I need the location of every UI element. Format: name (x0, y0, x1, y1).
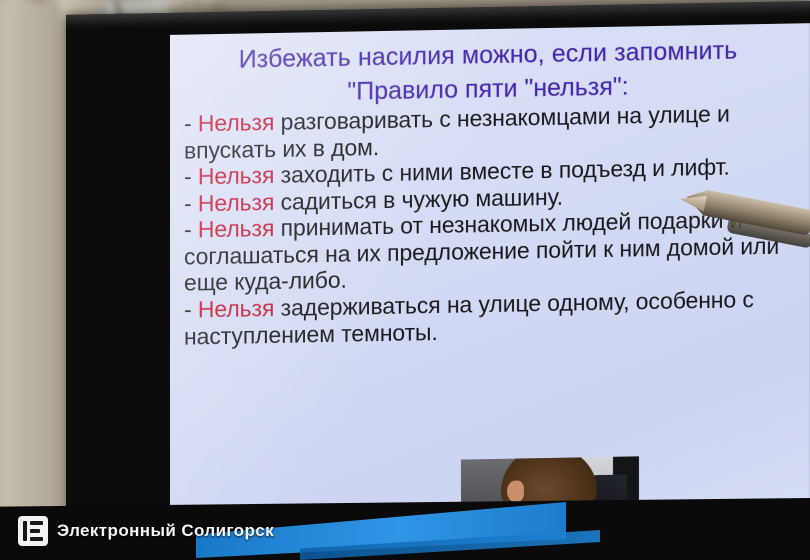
bullet-dash: - (184, 217, 192, 243)
watermark-label: Электронный Солигорск (57, 521, 274, 541)
display-monitor: Избежать насилия можно, если запомнить "… (66, 1, 810, 560)
rule-keyword: Нельзя (198, 189, 274, 216)
rule-keyword: Нельзя (198, 109, 274, 136)
slide-title: Избежать насилия можно, если запомнить (184, 36, 792, 75)
screenshot-scene: Избежать насилия можно, если запомнить "… (0, 0, 810, 560)
bullet-dash: - (184, 111, 192, 137)
photo-child-ear (507, 480, 524, 502)
rule-keyword: Нельзя (198, 162, 274, 189)
rule-keyword: Нельзя (198, 215, 274, 242)
bullet-dash: - (184, 164, 192, 190)
bullet-dash: - (184, 190, 192, 216)
list-item: - Нельзя задерживаться на улице одному, … (184, 285, 796, 349)
rule-keyword: Нельзя (198, 295, 274, 322)
electronic-book-e-icon (18, 516, 48, 546)
presentation-slide: Избежать насилия можно, если запомнить "… (170, 23, 810, 543)
bullet-dash: - (184, 296, 192, 322)
watermark: Электронный Солигорск (18, 516, 274, 546)
